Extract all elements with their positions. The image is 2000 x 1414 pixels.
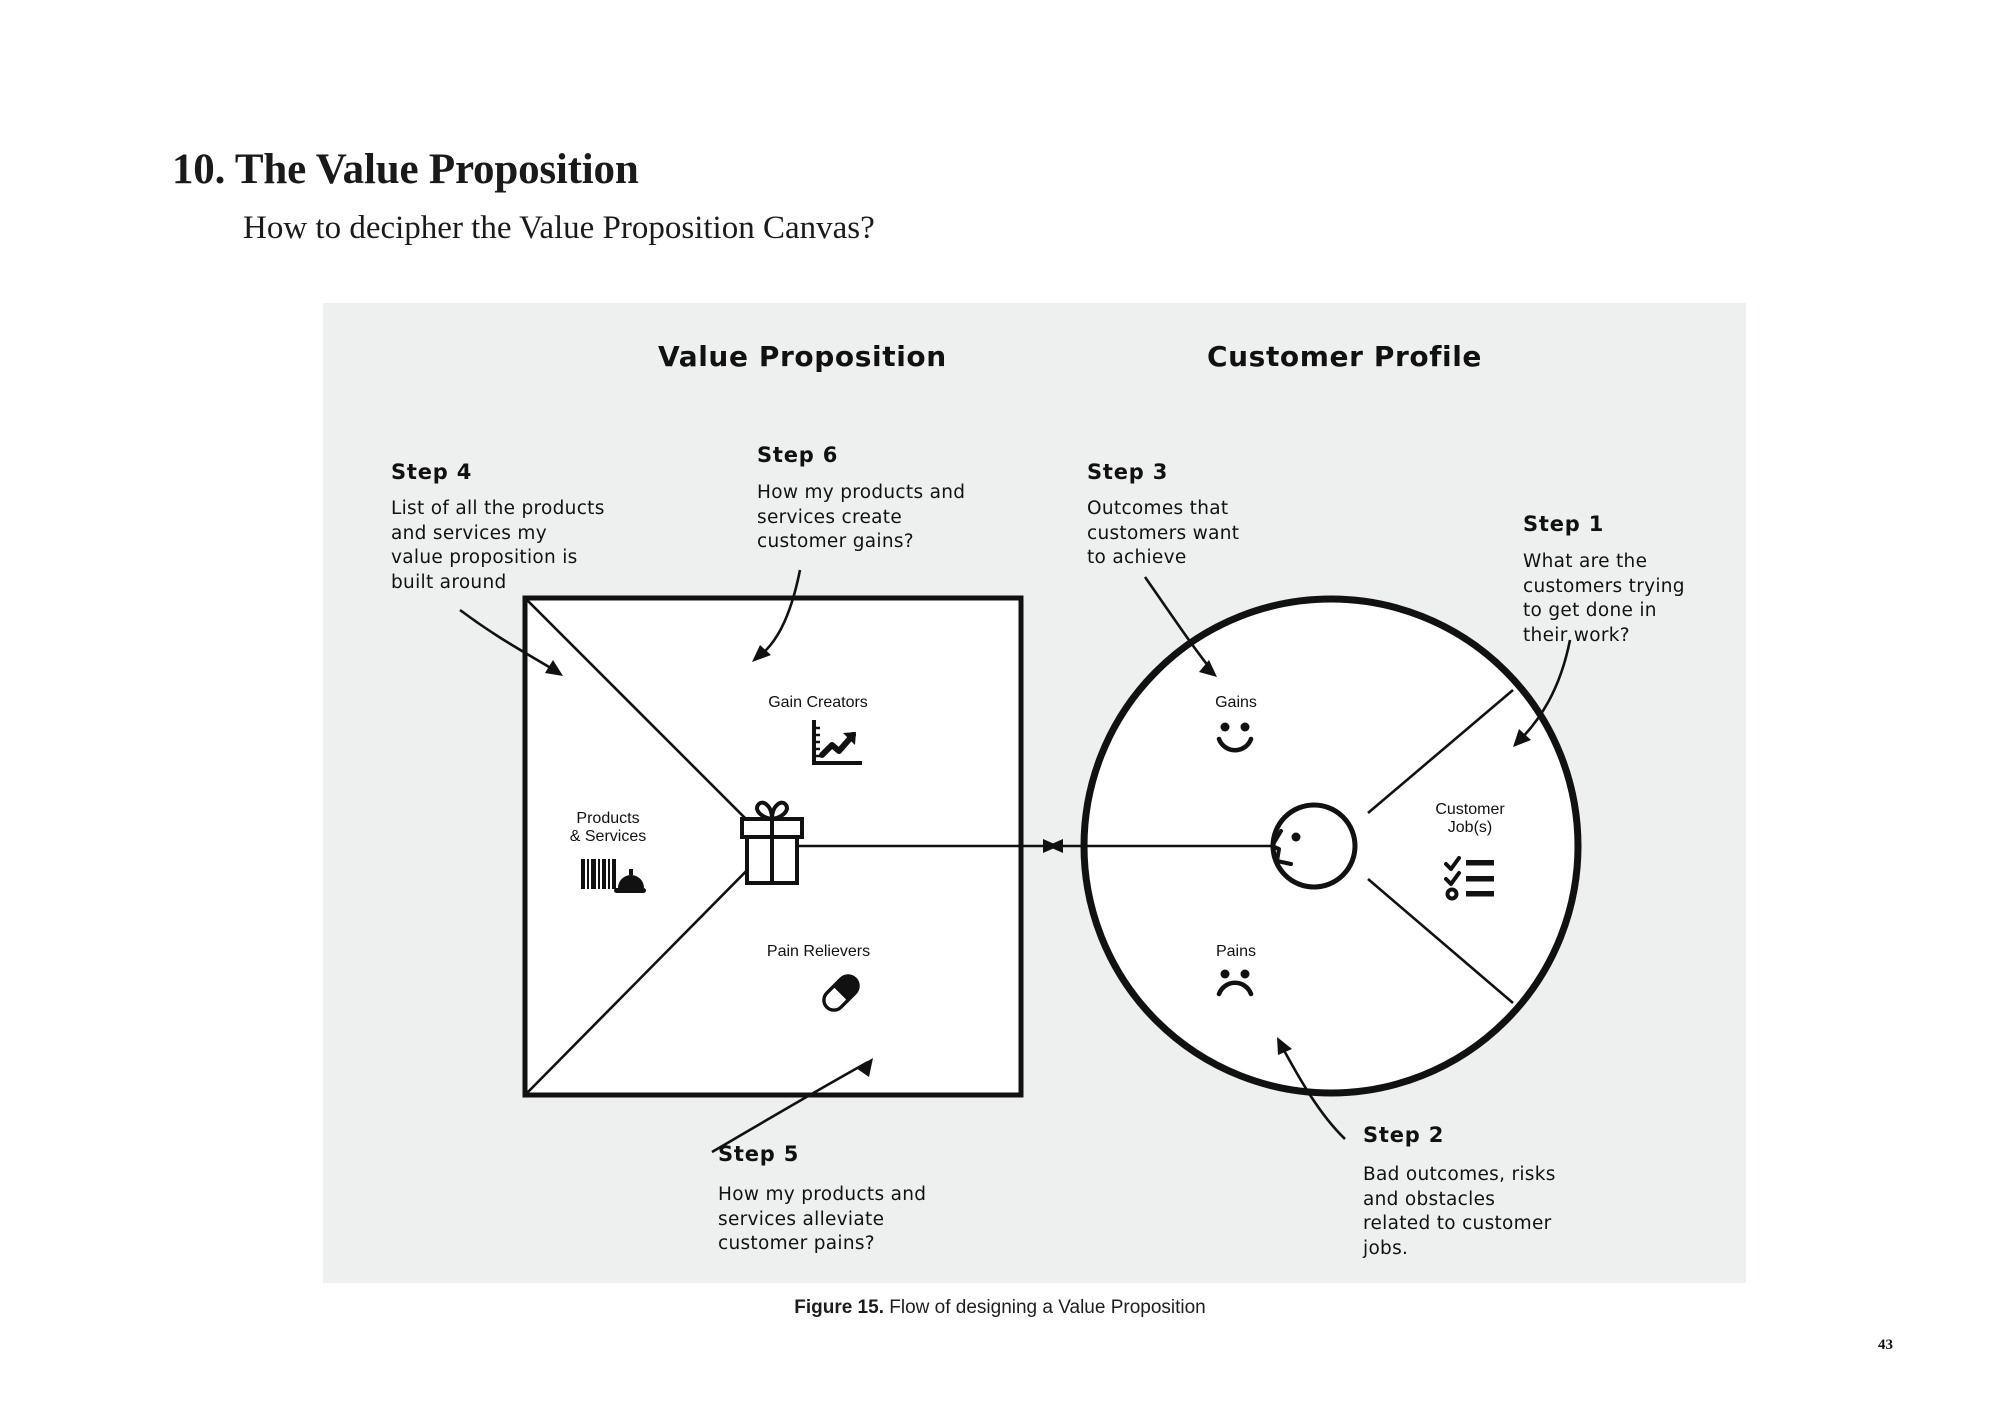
line-chart-up-icon (808, 719, 864, 769)
label-gain-creators: Gain Creators (738, 694, 898, 712)
label-gains: Gains (1186, 694, 1286, 712)
step-6-title: Step 6 (757, 443, 838, 467)
smiley-happy-icon (1208, 718, 1262, 758)
page-subtitle: How to decipher the Value Proposition Ca… (243, 210, 875, 247)
figure-panel (323, 303, 1746, 1283)
barcode-dome-icon (580, 855, 646, 897)
figure-caption-text: Flow of designing a Value Proposition (884, 1297, 1206, 1318)
label-pain-relievers: Pain Relievers (736, 943, 901, 961)
heading-customer-profile: Customer Profile (1207, 340, 1482, 373)
step-2-title: Step 2 (1363, 1123, 1444, 1147)
step-4-body: List of all the products and services my… (391, 497, 641, 595)
gift-box-icon (736, 795, 808, 890)
smiley-sad-icon (1208, 967, 1262, 1007)
step-2-body: Bad outcomes, risks and obstacles relate… (1363, 1163, 1603, 1261)
step-1-body: What are the customers trying to get don… (1523, 550, 1733, 648)
step-5-body: How my products and services alleviate c… (718, 1183, 968, 1257)
step-1-title: Step 1 (1523, 512, 1604, 536)
label-pains: Pains (1186, 943, 1286, 961)
checklist-icon (1443, 855, 1497, 903)
step-3-body: Outcomes that customers want to achieve (1087, 497, 1297, 571)
label-products-services: Products & Services (548, 810, 668, 846)
pill-capsule-icon (818, 970, 864, 1016)
step-4-title: Step 4 (391, 460, 472, 484)
step-6-body: How my products and services create cust… (757, 481, 987, 555)
figure-caption-label: Figure 15. (794, 1297, 884, 1318)
page-title: 10. The Value Proposition (172, 145, 639, 194)
step-3-title: Step 3 (1087, 460, 1168, 484)
figure-caption: Figure 15. Flow of designing a Value Pro… (0, 1297, 2000, 1319)
heading-value-proposition: Value Proposition (658, 340, 947, 373)
page-number: 43 (1878, 1337, 1893, 1354)
label-customer-jobs: Customer Job(s) (1395, 801, 1545, 837)
step-5-title: Step 5 (718, 1142, 799, 1166)
